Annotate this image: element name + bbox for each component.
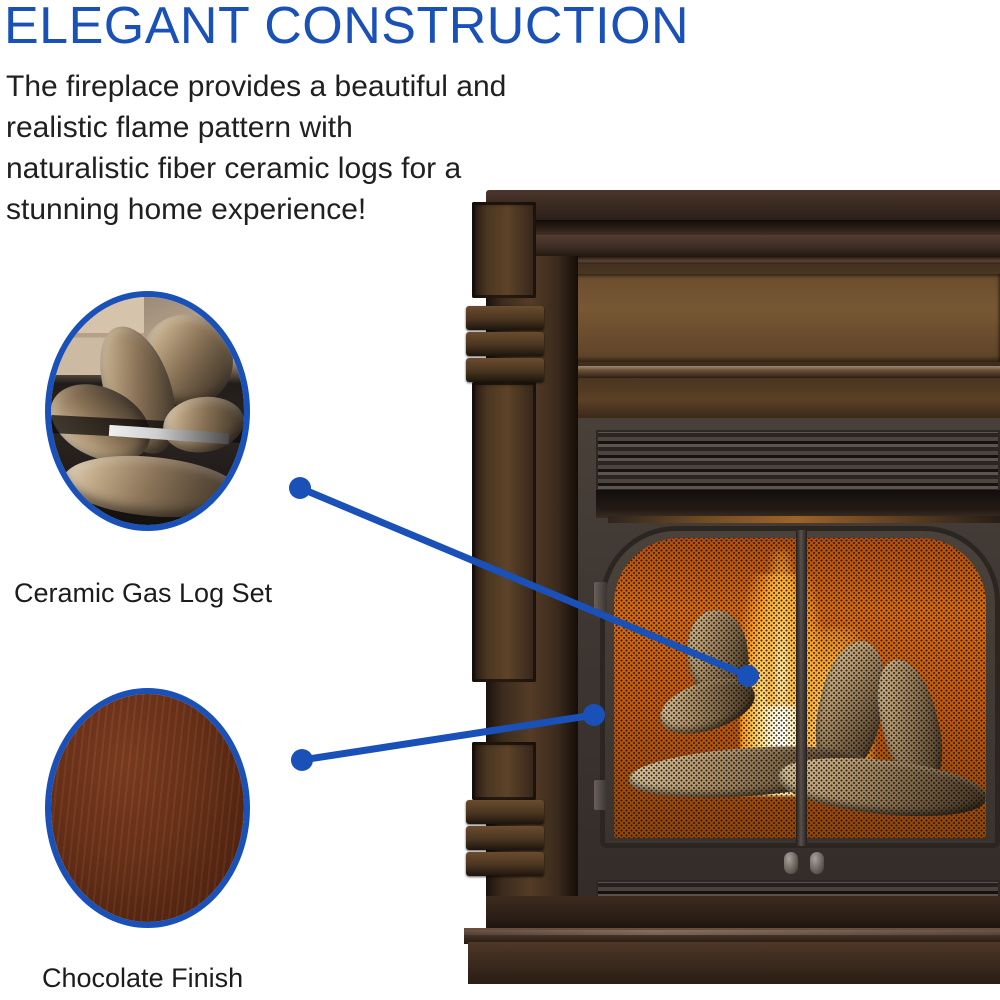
ceramic-log-4	[60, 449, 242, 524]
mantel-crown-top	[486, 190, 1000, 222]
mantel-frieze-lip	[504, 366, 1000, 378]
promo-graphic: ELEGANT CONSTRUCTION The fireplace provi…	[0, 0, 1000, 1000]
description-line-1: The fireplace provides a beautiful and	[6, 66, 606, 107]
pilaster-panel-top	[472, 202, 536, 298]
firebox-glow-strip	[608, 516, 1000, 523]
door-handle-right[interactable]	[810, 852, 824, 874]
callout-label-chocolate-finish: Chocolate Finish	[42, 963, 243, 994]
callout-label-ceramic-gas-log-set: Ceramic Gas Log Set	[14, 578, 272, 609]
page-title: ELEGANT CONSTRUCTION	[4, 0, 689, 56]
ceramic-log-photo	[51, 297, 244, 525]
mantel-frieze-lower	[504, 378, 1000, 418]
pilaster-block-5	[466, 826, 544, 850]
base-rail	[486, 896, 1000, 932]
swatch-ceramic-gas-log-set	[45, 291, 250, 531]
pilaster-block-1	[466, 306, 544, 330]
pilaster-block-6	[466, 852, 544, 876]
mantel-frieze-panel	[520, 274, 1000, 362]
door-hinge-upper[interactable]	[594, 582, 607, 612]
leader-dot-finish-start	[291, 749, 313, 771]
mantel-crown-lip	[480, 220, 1000, 236]
pilaster-block-3	[466, 358, 544, 382]
swatch-chocolate-finish	[45, 688, 250, 928]
pilaster-block-2	[466, 332, 544, 356]
fireplace-product-image	[458, 190, 1000, 980]
pilaster-block-4	[466, 800, 544, 824]
door-handle-left[interactable]	[784, 852, 798, 874]
door-hinge-lower[interactable]	[594, 780, 607, 810]
wood-finish-photo	[51, 694, 244, 922]
leader-dot-logs-start	[289, 477, 311, 499]
hearth-highlight	[464, 930, 1000, 935]
pilaster-panel-bottom	[472, 742, 536, 800]
mantel-crown-cove	[490, 235, 1000, 257]
description-line-3: naturalistic fiber ceramic logs for a	[6, 148, 606, 189]
upper-vent-shadow	[596, 490, 1000, 518]
pilaster-panel-middle	[472, 382, 536, 682]
door-center-mullion	[796, 530, 807, 846]
hearth-face	[468, 942, 1000, 984]
description-line-2: realistic flame pattern with	[6, 107, 606, 148]
